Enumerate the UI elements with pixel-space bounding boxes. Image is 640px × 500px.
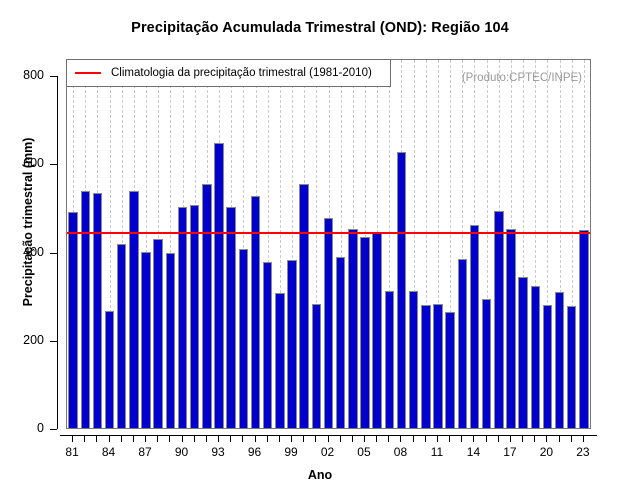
x-axis-tick	[510, 435, 511, 442]
bar	[129, 191, 138, 428]
x-axis-tick	[96, 435, 97, 442]
x-axis-tick	[255, 435, 256, 442]
x-axis-tick-label: 23	[576, 445, 589, 459]
x-axis-tick-label: 87	[138, 445, 151, 459]
x-axis-tick	[388, 435, 389, 442]
x-axis-tick-label: 08	[394, 445, 407, 459]
bar	[397, 152, 406, 428]
bar	[299, 184, 308, 428]
x-axis-tick	[473, 435, 474, 442]
x-axis-tick	[303, 435, 304, 442]
bar	[275, 293, 284, 428]
x-axis-tick	[534, 435, 535, 442]
plot-area: (Produto:CPTEC/INPE)	[66, 59, 591, 429]
x-axis-tick	[364, 435, 365, 442]
x-axis-tick	[267, 435, 268, 442]
x-axis-tick	[218, 435, 219, 442]
bar	[251, 196, 260, 428]
x-axis-tick-label: 99	[284, 445, 297, 459]
bar	[312, 304, 321, 428]
bar	[372, 233, 381, 428]
x-axis-tick	[461, 435, 462, 442]
bar	[579, 230, 588, 428]
x-axis-tick	[169, 435, 170, 442]
bar	[385, 291, 394, 428]
chart-figure: Precipitação Acumulada Trimestral (OND):…	[0, 0, 640, 500]
x-axis-tick-label: 93	[211, 445, 224, 459]
x-axis-line	[60, 435, 597, 436]
bar	[190, 205, 199, 428]
bar	[348, 229, 357, 428]
y-axis-tick-label: 800	[0, 68, 44, 82]
x-axis-tick	[437, 435, 438, 442]
bar	[239, 249, 248, 428]
bar	[567, 306, 576, 428]
bar	[178, 207, 187, 428]
x-axis-tick	[109, 435, 110, 442]
x-axis-tick	[376, 435, 377, 442]
x-axis-tick	[498, 435, 499, 442]
bar	[518, 277, 527, 428]
x-axis-tick-label: 81	[65, 445, 78, 459]
x-axis-tick-label: 02	[321, 445, 334, 459]
x-axis-tick	[157, 435, 158, 442]
x-axis-tick-label: 14	[467, 445, 480, 459]
legend-line-swatch	[75, 72, 101, 74]
bar	[421, 305, 430, 428]
x-axis-tick	[449, 435, 450, 442]
x-axis-tick	[242, 435, 243, 442]
x-axis-tick	[279, 435, 280, 442]
x-axis-tick-label: 96	[248, 445, 261, 459]
x-axis-title: Ano	[0, 468, 640, 482]
y-axis-tick-label: 200	[0, 333, 44, 347]
y-axis-line	[57, 76, 58, 429]
bar	[226, 207, 235, 428]
bar	[153, 239, 162, 428]
bar	[105, 311, 114, 428]
x-axis-tick-label: 11	[431, 445, 443, 459]
legend: Climatologia da precipitação trimestral …	[66, 59, 391, 87]
x-axis-tick	[352, 435, 353, 442]
bar	[141, 252, 150, 428]
x-axis-tick	[559, 435, 560, 442]
x-axis-tick	[425, 435, 426, 442]
y-axis-tick	[50, 429, 57, 430]
bar	[470, 225, 479, 428]
bar	[555, 292, 564, 428]
bar	[117, 244, 126, 428]
x-axis-tick	[413, 435, 414, 442]
x-axis-tick	[145, 435, 146, 442]
source-note: (Produto:CPTEC/INPE)	[462, 72, 582, 84]
x-axis-tick	[121, 435, 122, 442]
x-axis-tick	[84, 435, 85, 442]
y-axis-tick	[50, 164, 57, 165]
bar	[458, 259, 467, 428]
climatology-reference-line	[67, 232, 590, 234]
x-axis-tick	[340, 435, 341, 442]
x-axis-tick-label: 84	[102, 445, 115, 459]
x-axis-tick	[230, 435, 231, 442]
bar	[543, 305, 552, 428]
x-axis-tick	[72, 435, 73, 442]
x-axis-tick	[546, 435, 547, 442]
x-axis-tick-label: 90	[175, 445, 188, 459]
x-axis-tick	[182, 435, 183, 442]
x-axis-tick-label: 17	[503, 445, 516, 459]
bar	[166, 253, 175, 428]
bar	[482, 299, 491, 428]
x-axis-tick	[522, 435, 523, 442]
x-axis-tick-label: 20	[540, 445, 553, 459]
x-axis-tick	[328, 435, 329, 442]
x-axis-tick	[571, 435, 572, 442]
page-title: Precipitação Acumulada Trimestral (OND):…	[0, 20, 640, 36]
bar	[433, 304, 442, 428]
y-axis-tick	[50, 253, 57, 254]
bars-layer	[67, 60, 590, 428]
bar	[202, 184, 211, 428]
y-axis-tick-label: 600	[0, 156, 44, 170]
y-axis-tick	[50, 76, 57, 77]
y-axis-title: Precipitação trimestral (mm)	[21, 72, 35, 372]
bar	[68, 212, 77, 428]
x-axis-tick	[486, 435, 487, 442]
bar	[494, 211, 503, 428]
bar	[214, 143, 223, 428]
x-axis-tick	[291, 435, 292, 442]
bar	[93, 193, 102, 428]
bar	[360, 237, 369, 429]
bar	[287, 260, 296, 428]
x-axis-tick	[400, 435, 401, 442]
bar	[531, 286, 540, 428]
y-axis-tick-label: 0	[0, 421, 44, 435]
x-axis-tick	[206, 435, 207, 442]
x-axis-tick	[133, 435, 134, 442]
x-axis-tick	[194, 435, 195, 442]
bar	[506, 229, 515, 428]
legend-label: Climatologia da precipitação trimestral …	[111, 67, 372, 79]
y-axis-tick	[50, 341, 57, 342]
x-axis-tick	[315, 435, 316, 442]
y-axis-tick-label: 400	[0, 245, 44, 259]
bar	[81, 191, 90, 428]
bar	[336, 257, 345, 428]
x-axis-tick-label: 05	[357, 445, 370, 459]
bar	[324, 218, 333, 428]
bar	[263, 262, 272, 428]
bar	[409, 291, 418, 428]
bar	[445, 312, 454, 428]
x-axis-tick	[583, 435, 584, 442]
